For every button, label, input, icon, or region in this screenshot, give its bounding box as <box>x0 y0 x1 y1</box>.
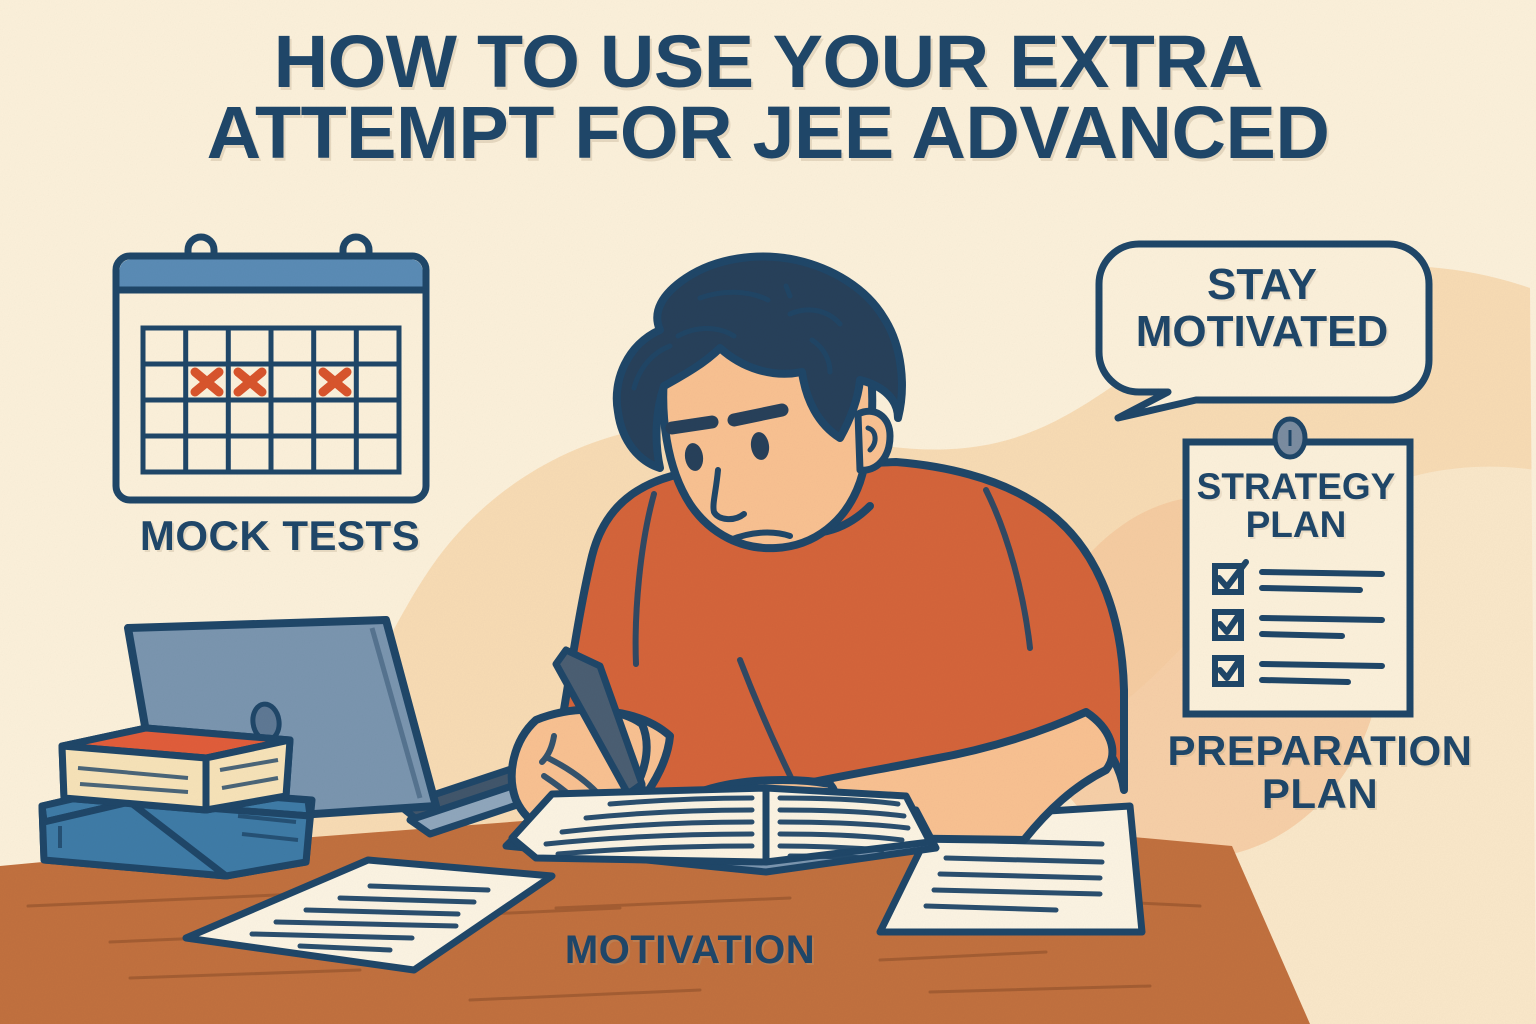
calendar-header <box>120 259 423 290</box>
speech-bubble <box>1099 244 1429 418</box>
open-notebook <box>506 788 936 872</box>
infographic-poster: HOW TO USE YOUR EXTRA ATTEMPT FOR JEE AD… <box>0 0 1536 1024</box>
clipboard <box>1186 419 1410 714</box>
illustration-canvas <box>0 0 1536 1024</box>
book-stack <box>42 728 312 876</box>
calendar-icon <box>116 237 426 500</box>
book-top <box>62 728 290 810</box>
